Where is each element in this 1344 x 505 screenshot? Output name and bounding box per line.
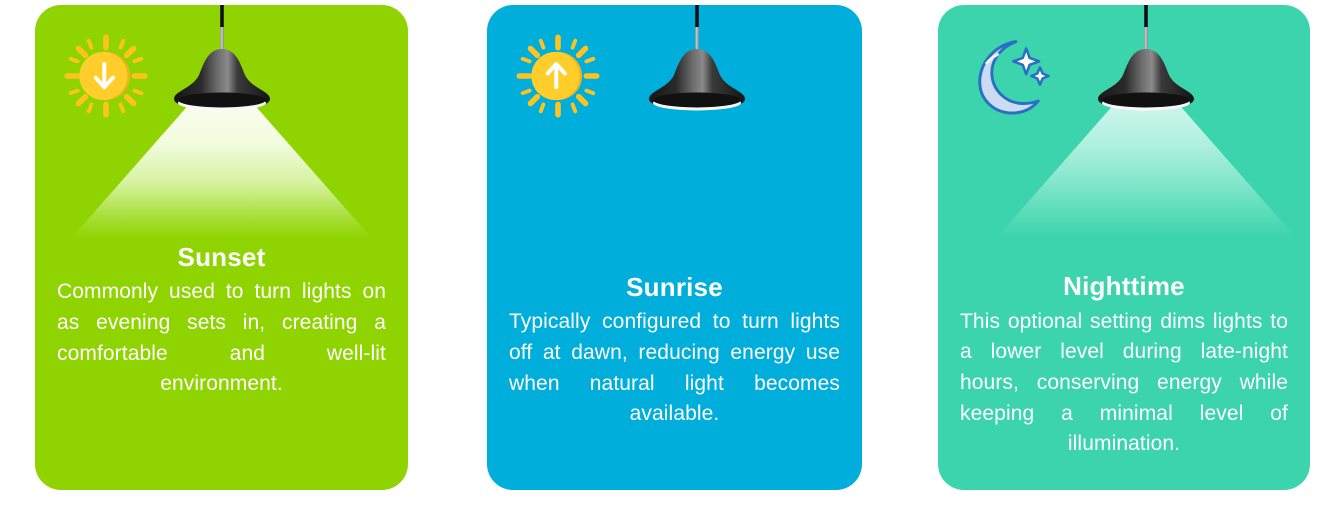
crescent-moon-stars-icon	[966, 33, 1052, 119]
card-sunrise[interactable]: Sunrise Typically configured to turn lig…	[487, 5, 862, 490]
card-title: Nighttime	[960, 270, 1288, 303]
pendant-lamp-icon	[1036, 5, 1256, 115]
card-title: Sunrise	[509, 271, 840, 304]
card-sunset[interactable]: Sunset Commonly used to turn lights on a…	[35, 5, 408, 490]
sun-up-arrow-icon	[515, 33, 601, 119]
pendant-lamp-icon	[112, 5, 332, 115]
card-nighttime[interactable]: Nighttime This optional setting dims lig…	[938, 5, 1310, 490]
light-beam-nighttime	[996, 93, 1296, 238]
card-text-sunrise: Sunrise Typically configured to turn lig…	[487, 271, 862, 444]
pendant-lamp-icon	[587, 5, 807, 115]
sun-down-arrow-icon	[63, 33, 149, 119]
card-text-sunset: Sunset Commonly used to turn lights on a…	[35, 241, 408, 414]
card-title: Sunset	[57, 241, 386, 274]
cards-board: Sunset Commonly used to turn lights on a…	[0, 0, 1344, 505]
card-description: This optional setting dims lights to a l…	[960, 307, 1288, 460]
light-beam-sunset	[72, 93, 372, 238]
card-description: Commonly used to turn lights on as eveni…	[57, 277, 386, 400]
card-description: Typically configured to turn lights off …	[509, 307, 840, 430]
card-text-nighttime: Nighttime This optional setting dims lig…	[938, 270, 1310, 474]
